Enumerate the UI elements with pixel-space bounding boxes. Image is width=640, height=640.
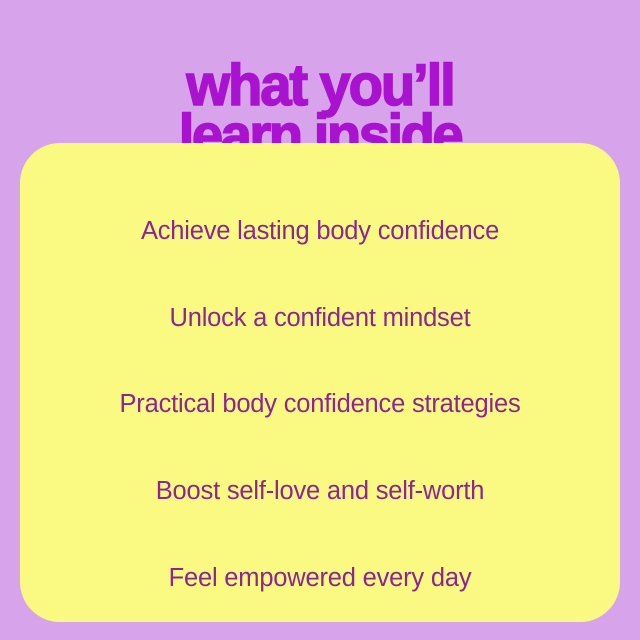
benefit-label-2: Unlock a confident mindset bbox=[170, 304, 471, 333]
benefit-label-5: Feel empowered every day bbox=[169, 564, 472, 593]
benefit-label-4: Boost self-love and self-worth bbox=[156, 477, 485, 506]
list-item: Unlock a confident mindset bbox=[20, 275, 620, 362]
list-item: Achieve lasting body confidence bbox=[20, 188, 620, 275]
benefit-label-1: Achieve lasting body confidence bbox=[141, 217, 499, 246]
benefit-label-3: Practical body confidence strategies bbox=[119, 390, 520, 419]
list-item: Boost self-love and self-worth bbox=[20, 448, 620, 535]
promo-poster: what you’ll learn inside Achieve lasting… bbox=[0, 0, 640, 640]
benefits-card: Achieve lasting body confidence Unlock a… bbox=[20, 143, 620, 622]
list-item: Practical body confidence strategies bbox=[20, 362, 620, 449]
list-item: Feel empowered every day bbox=[20, 535, 620, 622]
